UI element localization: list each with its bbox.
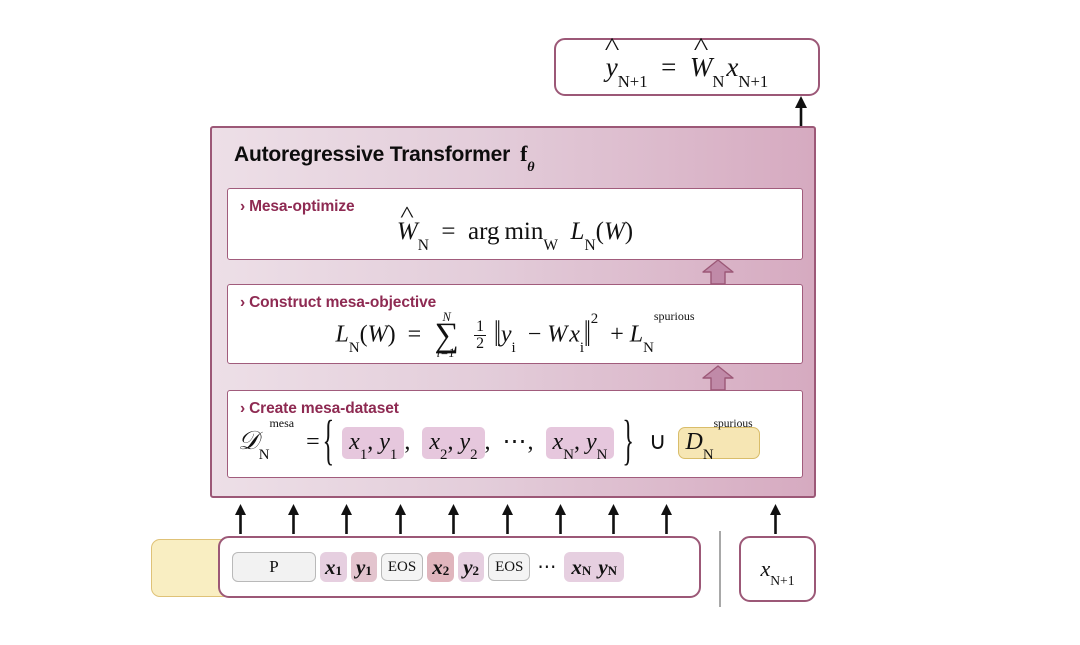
formula-construct-mesa-objective: LN(W) = ∑Ni=1 12 ‖yi − W xi‖2 + LNspurio… <box>228 319 802 353</box>
transformer-title: Autoregressive Transformerfθ <box>234 141 534 167</box>
step-label-text: Construct mesa-objective <box>249 294 436 311</box>
input-arrow-2-icon <box>287 504 300 534</box>
token-prompt[interactable]: P <box>232 552 316 582</box>
input-arrow-5-icon <box>447 504 460 534</box>
token-x2[interactable]: x2 <box>427 552 454 582</box>
token-eos-1-label: EOS <box>388 559 416 576</box>
input-arrow-6-icon <box>501 504 514 534</box>
output-prediction-box: yN+1 = WNxN+1 <box>554 38 820 96</box>
token-row: P x1 y1 EOS x2 y2 EOS ⋯ xNyN <box>232 538 624 596</box>
input-arrow-7-icon <box>554 504 567 534</box>
mesa-pair-2: x2, y2 <box>422 427 484 459</box>
sequence-separator <box>719 531 721 607</box>
input-arrow-3-icon <box>340 504 353 534</box>
token-eos-2[interactable]: EOS <box>488 553 530 581</box>
output-formula: yN+1 = WNxN+1 <box>606 54 769 81</box>
step-panel-mesa-optimize: ›Mesa-optimize WN = arg minW LN(W) <box>227 188 803 260</box>
step-panel-construct-mesa-objective: ›Construct mesa-objective LN(W) = ∑Ni=1 … <box>227 284 803 364</box>
token-ellipsis: ⋯ <box>534 556 560 579</box>
input-arrow-next-icon <box>769 504 782 534</box>
input-arrow-8-icon <box>607 504 620 534</box>
step-panel-create-mesa-dataset: ›Create mesa-dataset 𝒟Nmesa ={ x1, y1, x… <box>227 390 803 478</box>
spurious-dataset-chip: DNspurious <box>678 427 759 459</box>
arrow-transformer-to-output-icon <box>794 96 808 126</box>
token-y1[interactable]: y1 <box>351 552 377 582</box>
step-label-create-mesa-dataset: ›Create mesa-dataset <box>240 400 399 418</box>
next-input-formula: xN+1 <box>760 558 794 580</box>
token-ellipsis-label: ⋯ <box>537 556 557 579</box>
token-eos-1[interactable]: EOS <box>381 553 423 581</box>
transformer-fn-subscript: θ <box>527 159 534 175</box>
token-x1[interactable]: x1 <box>320 552 347 582</box>
input-arrow-1-icon <box>234 504 247 534</box>
input-arrow-9-icon <box>660 504 673 534</box>
block-arrow-objective-to-optimize-icon <box>701 365 735 391</box>
token-prompt-label: P <box>269 557 278 577</box>
mesa-pair-1: x1, y1 <box>342 427 404 459</box>
token-xN-yN[interactable]: xNyN <box>564 552 624 582</box>
transformer-title-text: Autoregressive Transformer <box>234 143 510 166</box>
formula-create-mesa-dataset: 𝒟Nmesa ={ x1, y1, x2, y2, ⋯, xN, yN } ∪ … <box>228 427 812 459</box>
formula-mesa-optimize: WN = arg minW LN(W) <box>228 219 802 244</box>
block-arrow-dataset-to-objective-icon <box>701 259 735 285</box>
chevron-right-icon: › <box>240 198 245 215</box>
step-label-mesa-optimize: ›Mesa-optimize <box>240 198 355 216</box>
step-label-text: Mesa-optimize <box>249 198 355 215</box>
transformer-fn-symbol: fθ <box>520 141 534 166</box>
chevron-right-icon: › <box>240 294 245 311</box>
next-input-box[interactable]: xN+1 <box>739 536 816 602</box>
input-arrow-4-icon <box>394 504 407 534</box>
token-sequence-box: P x1 y1 EOS x2 y2 EOS ⋯ xNyN <box>218 536 701 598</box>
autoregressive-transformer-box: Autoregressive Transformerfθ ›Mesa-optim… <box>210 126 816 498</box>
chevron-right-icon: › <box>240 400 245 417</box>
token-eos-2-label: EOS <box>495 559 523 576</box>
mesa-pair-n: xN, yN <box>546 427 615 459</box>
step-label-construct-mesa-objective: ›Construct mesa-objective <box>240 294 436 312</box>
token-y2[interactable]: y2 <box>458 552 484 582</box>
